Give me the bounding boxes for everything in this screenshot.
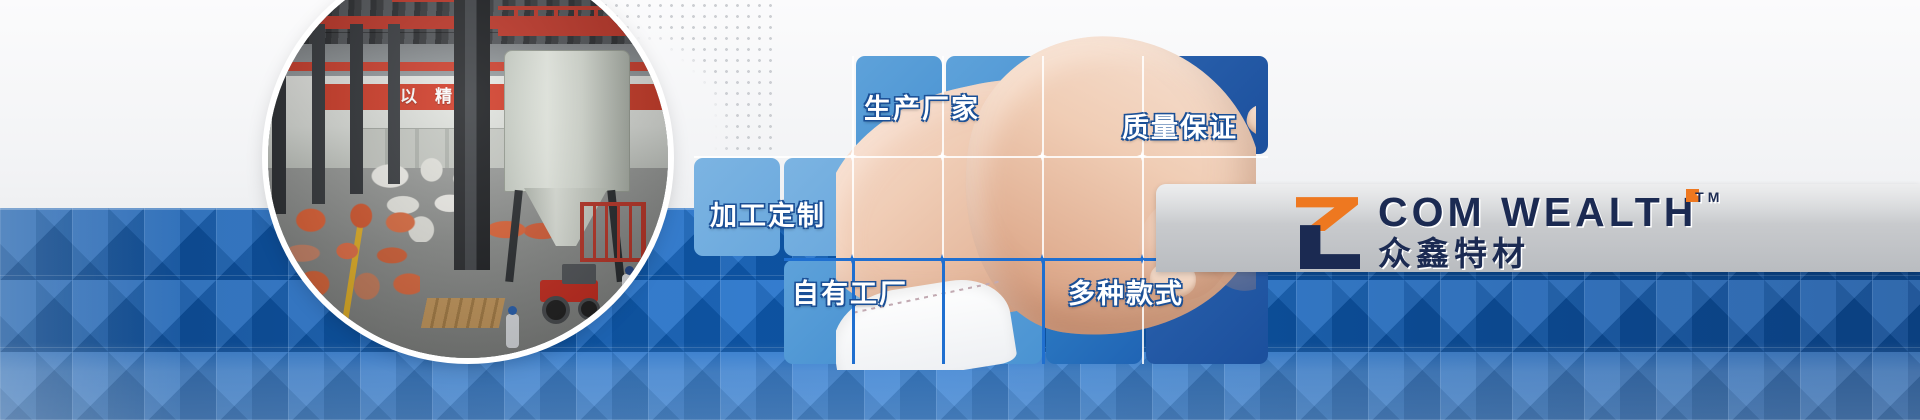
tile-label-quality-assurance: 质量保证 [1122, 106, 1238, 145]
fingernail [1244, 100, 1256, 141]
logo-plate: COM WEALTH TM 众鑫特材 [1156, 184, 1920, 272]
logo-mark-navy-shape [1300, 225, 1360, 269]
factory-interior-photo: 以精立业 [268, 0, 668, 358]
logo-english-name: COM WEALTH [1378, 189, 1697, 235]
logo-english-name-wrap: COM WEALTH TM [1378, 192, 1697, 233]
tile-label-multiple-styles: 多种款式 [1068, 272, 1184, 311]
band-left-fade [0, 208, 180, 420]
com-wealth-logo-mark [1290, 195, 1364, 269]
tile-label-custom-processing: 加工定制 [710, 194, 826, 233]
promo-banner: 以精立业 [0, 0, 1920, 420]
tile-label-own-factory: 自有工厂 [792, 272, 908, 311]
company-logo: COM WEALTH TM 众鑫特材 [1290, 192, 1697, 272]
tile-label-production-manufacturer: 生产厂家 [864, 87, 980, 126]
factory-photo-circle: 以精立业 [268, 0, 668, 358]
logo-trademark: TM [1695, 190, 1723, 204]
logo-chinese-name: 众鑫特材 [1378, 236, 1697, 272]
